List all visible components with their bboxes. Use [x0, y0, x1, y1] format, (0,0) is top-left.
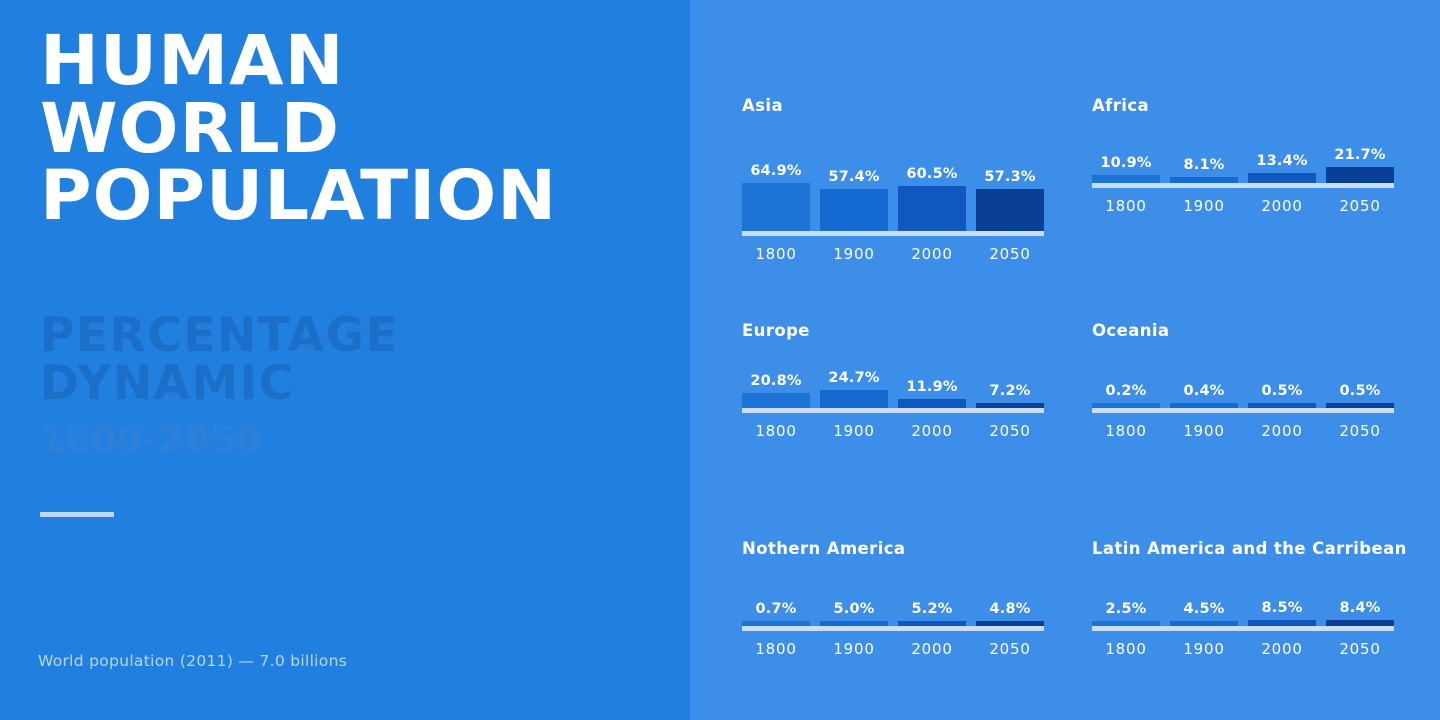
axis-baseline [1092, 626, 1394, 631]
bar[interactable] [820, 390, 888, 408]
axis-tick-label: 1800 [1092, 422, 1160, 440]
subtitle-line-1: PERCENTAGE [40, 312, 680, 360]
bar[interactable] [976, 621, 1044, 626]
bar-column[interactable]: 21.7% [1326, 121, 1394, 183]
bar-column[interactable]: 64.9% [742, 121, 810, 231]
bar[interactable] [1326, 620, 1394, 626]
axis-tick-label: 2050 [976, 640, 1044, 658]
plot-area: 2.5%4.5%8.5%8.4% [1092, 564, 1394, 626]
bar[interactable] [976, 403, 1044, 408]
axis-tick-label: 1800 [1092, 197, 1160, 215]
bar[interactable] [898, 399, 966, 408]
axis-tick-label: 2050 [1326, 197, 1394, 215]
title-panel: HUMAN WORLD POPULATION PERCENTAGE DYNAMI… [0, 0, 690, 720]
axis-tick-labels: 1800190020002050 [742, 422, 1044, 440]
bar-value-label: 64.9% [750, 163, 801, 179]
infographic-poster: HUMAN WORLD POPULATION PERCENTAGE DYNAMI… [0, 0, 1440, 720]
year-range-label: 1800-2050 [40, 420, 680, 460]
axis-tick-label: 2050 [1326, 640, 1394, 658]
bar-column[interactable]: 8.4% [1326, 564, 1394, 626]
bar-column[interactable]: 0.2% [1092, 346, 1160, 408]
bar-value-label: 57.4% [828, 169, 879, 185]
bar[interactable] [1092, 175, 1160, 183]
chart-title: Oceania [1092, 321, 1397, 340]
axis-tick-label: 1800 [1092, 640, 1160, 658]
title-line-1: HUMAN [40, 28, 693, 96]
plot-area: 0.2%0.4%0.5%0.5% [1092, 346, 1394, 408]
bar-value-label: 10.9% [1100, 155, 1151, 171]
bar[interactable] [1326, 167, 1394, 183]
bar-column[interactable]: 57.4% [820, 121, 888, 231]
bar-column[interactable]: 20.8% [742, 346, 810, 408]
charts-grid: Asia64.9%57.4%60.5%57.3%1800190020002050… [742, 96, 1402, 658]
axis-baseline [742, 626, 1044, 631]
axis-baseline [1092, 183, 1394, 188]
bar-column[interactable]: 8.1% [1170, 121, 1238, 183]
chart-title: Europe [742, 321, 1047, 340]
bar[interactable] [742, 393, 810, 408]
axis-baseline [1092, 408, 1394, 413]
page-title: HUMAN WORLD POPULATION [40, 28, 680, 231]
bar[interactable] [1170, 177, 1238, 183]
bar[interactable] [1326, 403, 1394, 408]
bar[interactable] [1248, 403, 1316, 408]
bar-column[interactable]: 0.5% [1326, 346, 1394, 408]
axis-tick-label: 2050 [976, 422, 1044, 440]
bar-column[interactable]: 4.8% [976, 564, 1044, 626]
bar-value-label: 0.5% [1339, 383, 1380, 399]
bar[interactable] [1170, 403, 1238, 408]
bar-column[interactable]: 5.0% [820, 564, 888, 626]
bar-column[interactable]: 13.4% [1248, 121, 1316, 183]
bar-value-label: 0.5% [1261, 383, 1302, 399]
axis-tick-label: 2050 [976, 245, 1044, 263]
axis-tick-label: 1800 [742, 422, 810, 440]
chart-latin-america-and-the-carribean: Latin America and the Carribean2.5%4.5%8… [1092, 539, 1397, 658]
bar-value-label: 8.1% [1183, 157, 1224, 173]
title-line-2: WORLD [40, 96, 693, 164]
bar-column[interactable]: 24.7% [820, 346, 888, 408]
chart-europe: Europe20.8%24.7%11.9%7.2%180019002000205… [742, 321, 1047, 539]
plot-area: 64.9%57.4%60.5%57.3% [742, 121, 1044, 231]
plot-area: 10.9%8.1%13.4%21.7% [1092, 121, 1394, 183]
chart-title: Latin America and the Carribean [1092, 539, 1397, 558]
bar-value-label: 5.0% [833, 601, 874, 617]
chart-africa: Africa10.9%8.1%13.4%21.7%180019002000205… [1092, 96, 1397, 321]
subtitle-line-2: DYNAMIC [40, 360, 680, 408]
axis-tick-label: 2050 [1326, 422, 1394, 440]
bar-value-label: 8.4% [1339, 600, 1380, 616]
axis-tick-labels: 1800190020002050 [1092, 422, 1394, 440]
axis-tick-label: 1900 [820, 422, 888, 440]
plot-area: 20.8%24.7%11.9%7.2% [742, 346, 1044, 408]
bar-value-label: 20.8% [750, 373, 801, 389]
axis-tick-labels: 1800190020002050 [1092, 197, 1394, 215]
chart-nothern-america: Nothern America0.7%5.0%5.2%4.8%180019002… [742, 539, 1047, 658]
bar-column[interactable]: 10.9% [1092, 121, 1160, 183]
axis-tick-label: 2000 [898, 640, 966, 658]
bar[interactable] [742, 183, 810, 231]
axis-tick-label: 2000 [1248, 422, 1316, 440]
axis-tick-label: 2000 [1248, 197, 1316, 215]
axis-tick-label: 1900 [1170, 640, 1238, 658]
bar-value-label: 0.4% [1183, 383, 1224, 399]
bar[interactable] [1092, 403, 1160, 408]
bar-value-label: 8.5% [1261, 600, 1302, 616]
bar-value-label: 4.8% [989, 601, 1030, 617]
bar-column[interactable]: 4.5% [1170, 564, 1238, 626]
bar-value-label: 7.2% [989, 383, 1030, 399]
axis-baseline [742, 408, 1044, 413]
bar-value-label: 4.5% [1183, 601, 1224, 617]
bar-value-label: 0.7% [755, 601, 796, 617]
bar[interactable] [1092, 621, 1160, 626]
bar-column[interactable]: 5.2% [898, 564, 966, 626]
axis-tick-label: 1900 [1170, 197, 1238, 215]
axis-tick-label: 2000 [1248, 640, 1316, 658]
bar[interactable] [898, 621, 966, 626]
axis-tick-label: 2000 [898, 422, 966, 440]
chart-title: Nothern America [742, 539, 1047, 558]
chart-title: Africa [1092, 96, 1397, 115]
bar[interactable] [976, 189, 1044, 231]
bar[interactable] [1248, 173, 1316, 183]
plot-area: 0.7%5.0%5.2%4.8% [742, 564, 1044, 626]
axis-tick-labels: 1800190020002050 [742, 640, 1044, 658]
bar-column[interactable]: 2.5% [1092, 564, 1160, 626]
axis-tick-label: 1900 [1170, 422, 1238, 440]
bar-value-label: 21.7% [1334, 147, 1385, 163]
bar[interactable] [1248, 620, 1316, 626]
bar-value-label: 5.2% [911, 601, 952, 617]
axis-tick-labels: 1800190020002050 [742, 245, 1044, 263]
axis-tick-label: 1800 [742, 245, 810, 263]
bar-column[interactable]: 0.5% [1248, 346, 1316, 408]
title-line-3: POPULATION [40, 163, 693, 231]
accent-divider [40, 512, 114, 517]
bar-value-label: 0.2% [1105, 383, 1146, 399]
bar-column[interactable]: 0.7% [742, 564, 810, 626]
bar-value-label: 2.5% [1105, 601, 1146, 617]
bar-column[interactable]: 7.2% [976, 346, 1044, 408]
chart-oceania: Oceania0.2%0.4%0.5%0.5%1800190020002050 [1092, 321, 1397, 539]
bar-column[interactable]: 8.5% [1248, 564, 1316, 626]
bar-value-label: 13.4% [1256, 153, 1307, 169]
bar[interactable] [820, 621, 888, 626]
bar[interactable] [1170, 621, 1238, 626]
bar-value-label: 11.9% [906, 379, 957, 395]
axis-tick-label: 1800 [742, 640, 810, 658]
axis-baseline [742, 231, 1044, 236]
bar-column[interactable]: 60.5% [898, 121, 966, 231]
axis-tick-label: 2000 [898, 245, 966, 263]
axis-tick-label: 1900 [820, 245, 888, 263]
chart-asia: Asia64.9%57.4%60.5%57.3%1800190020002050 [742, 96, 1047, 321]
page-subtitle: PERCENTAGE DYNAMIC 1800-2050 [40, 312, 680, 460]
bar-column[interactable]: 11.9% [898, 346, 966, 408]
bar-column[interactable]: 57.3% [976, 121, 1044, 231]
chart-title: Asia [742, 96, 1047, 115]
bar[interactable] [820, 189, 888, 231]
axis-tick-label: 1900 [820, 640, 888, 658]
axis-tick-labels: 1800190020002050 [1092, 640, 1394, 658]
bar[interactable] [742, 621, 810, 626]
bar-value-label: 60.5% [906, 166, 957, 182]
bar-value-label: 57.3% [984, 169, 1035, 185]
footnote-text: World population (2011) — 7.0 billions [38, 652, 347, 670]
charts-panel: Asia64.9%57.4%60.5%57.3%1800190020002050… [690, 0, 1440, 720]
bar-value-label: 24.7% [828, 370, 879, 386]
bar[interactable] [898, 186, 966, 231]
bar-column[interactable]: 0.4% [1170, 346, 1238, 408]
